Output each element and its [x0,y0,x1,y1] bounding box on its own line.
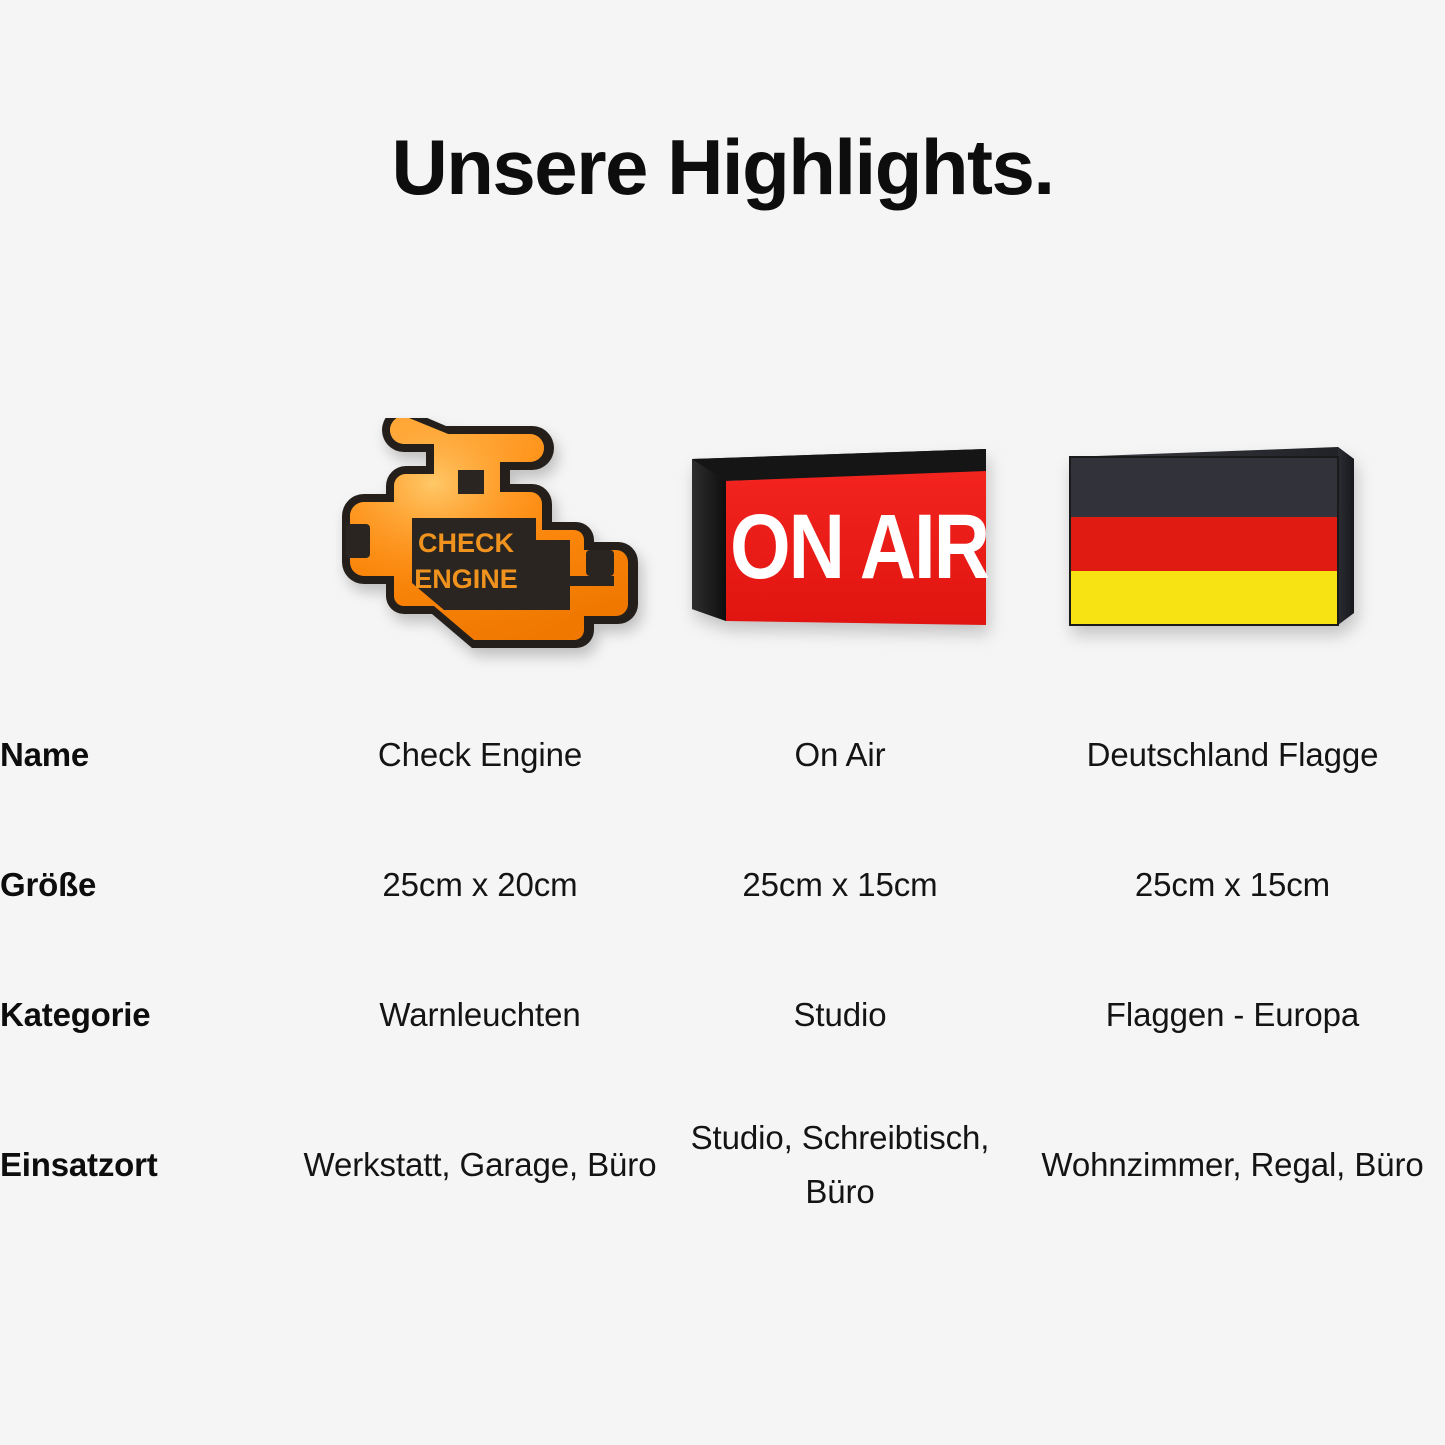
check-engine-text-line2: ENGINE [414,564,518,594]
germany-flag-icon [1060,435,1360,635]
table-row: Einsatzort Werkstatt, Garage, Büro Studi… [0,1080,1445,1250]
cell-einsatzort-col3: Wohnzimmer, Regal, Büro [1020,1080,1445,1250]
row-label-name: Name [0,690,300,820]
row-label-kategorie: Kategorie [0,950,300,1080]
page-title: Unsere Highlights. [0,128,1445,206]
cell-name-col3: Deutschland Flagge [1020,690,1445,820]
cell-einsatzort-col2: Studio, Schreibtisch, Büro [660,1080,1020,1250]
product-image-row: CHECK ENGINE [0,400,1445,670]
row-label-einsatzort: Einsatzort [0,1080,300,1250]
cell-groesse-col2: 25cm x 15cm [660,820,1020,950]
cell-kategorie-col2: Studio [660,950,1020,1080]
on-air-sign-icon: ON AIR [684,435,996,635]
table-row: Kategorie Warnleuchten Studio Flaggen - … [0,950,1445,1080]
cell-name-col1: Check Engine [300,690,660,820]
product-image-germany-flag[interactable] [1020,400,1400,670]
on-air-text: ON AIR [730,496,989,598]
cell-groesse-col3: 25cm x 15cm [1020,820,1445,950]
highlights-page: Unsere Highlights. [0,0,1445,1445]
product-image-on-air[interactable]: ON AIR [660,400,1020,670]
cell-kategorie-col1: Warnleuchten [300,950,660,1080]
check-engine-icon: CHECK ENGINE [320,418,640,653]
cell-kategorie-col3: Flaggen - Europa [1020,950,1445,1080]
table-row: Größe 25cm x 20cm 25cm x 15cm 25cm x 15c… [0,820,1445,950]
check-engine-text-line1: CHECK [418,528,515,558]
table-row: Name Check Engine On Air Deutschland Fla… [0,690,1445,820]
spec-comparison-table: Name Check Engine On Air Deutschland Fla… [0,690,1445,1250]
cell-groesse-col1: 25cm x 20cm [300,820,660,950]
cell-einsatzort-col1: Werkstatt, Garage, Büro [300,1080,660,1250]
product-image-check-engine[interactable]: CHECK ENGINE [300,400,660,670]
cell-name-col2: On Air [660,690,1020,820]
row-label-groesse: Größe [0,820,300,950]
